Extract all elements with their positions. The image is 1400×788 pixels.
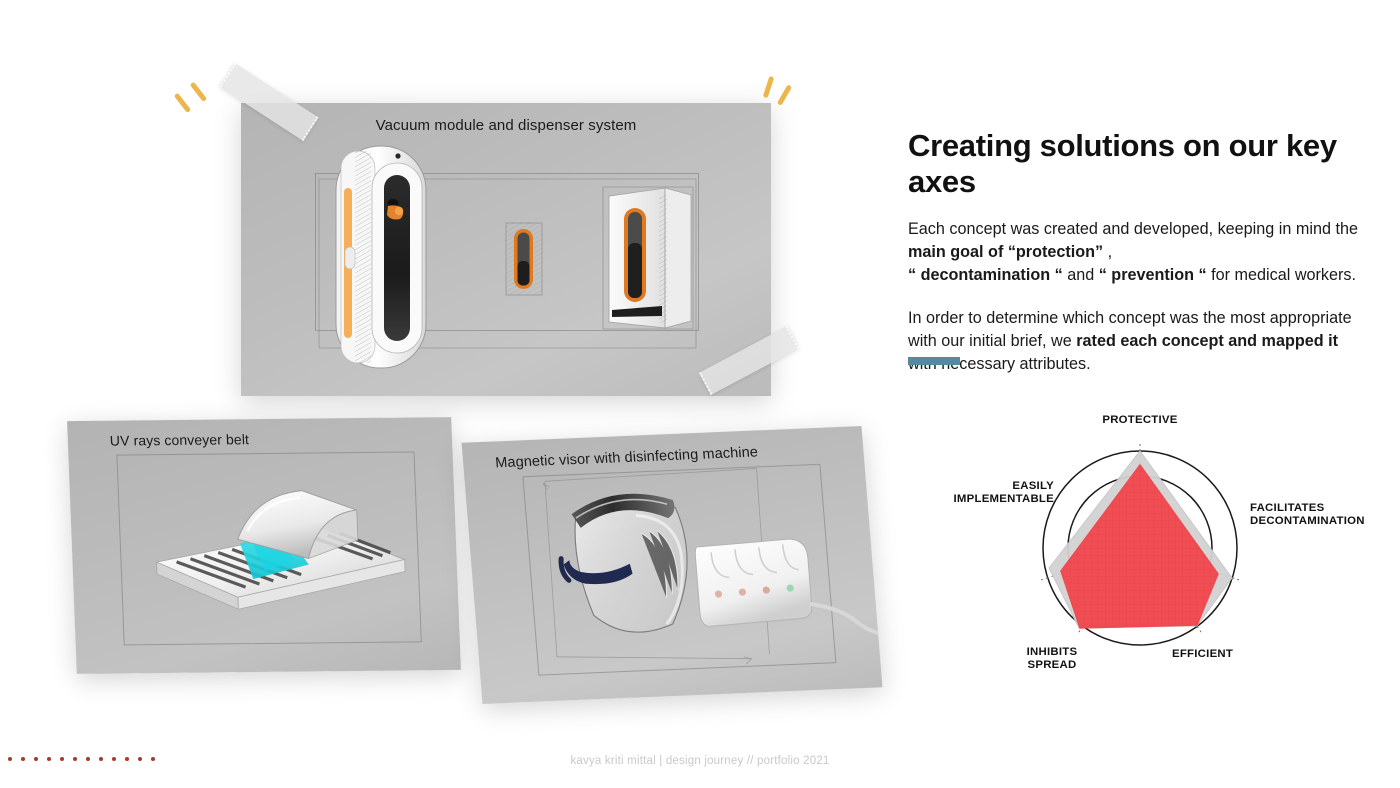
page-title: Creating solutions on our key axes — [908, 128, 1368, 200]
footer-dot-row — [8, 757, 155, 761]
footer-dot — [112, 757, 116, 761]
sketch-board-magnetic-visor[interactable]: Magnetic visor with disinfecting machine — [462, 426, 883, 704]
footer-dot — [60, 757, 64, 761]
para1-part1: Each concept was created and developed, … — [908, 220, 1358, 238]
vacuum-module-sketch — [241, 103, 771, 396]
sparkle-icon-right — [762, 72, 800, 110]
copy-block: Creating solutions on our key axes Each … — [908, 128, 1368, 396]
magnetic-visor-sketch — [462, 426, 883, 704]
footer-dot — [21, 757, 25, 761]
radar-axis-label-easily-implementable: EASILY IMPLEMENTABLE — [930, 480, 1054, 507]
para1-bold3: “ prevention “ — [1099, 266, 1207, 284]
footer-dot — [125, 757, 129, 761]
radar-axis-label-efficient: EFFICIENT — [1172, 648, 1282, 661]
radar-axis-label-facilitates-decontamination: FACILITATES DECONTAMINATION — [1250, 502, 1380, 529]
footer-dot — [138, 757, 142, 761]
footer-dot — [86, 757, 90, 761]
sparkle-icon-left — [176, 78, 214, 116]
paragraph-concept-goals: Each concept was created and developed, … — [908, 218, 1368, 287]
footer-dot — [47, 757, 51, 761]
footer-dot — [73, 757, 77, 761]
para1-part2: , — [1103, 243, 1112, 261]
footer-dot — [151, 757, 155, 761]
radar-value-polygon — [1061, 465, 1218, 628]
uv-conveyer-sketch — [67, 417, 461, 674]
para1-part3: and — [1063, 266, 1099, 284]
sketch-board-vacuum-module[interactable]: Vacuum module and dispenser system — [241, 103, 771, 396]
sketch-board-uv-conveyer-belt[interactable]: UV rays conveyer belt — [67, 417, 461, 674]
footer-credit: kavya kriti mittal | design journey // p… — [0, 755, 1400, 767]
radar-axis-label-inhibits-spread: INHIBITS SPREAD — [1004, 646, 1100, 673]
para1-part4: for medical workers. — [1207, 266, 1356, 284]
radar-chart-svg — [930, 408, 1370, 688]
para1-bold1: main goal of “protection” — [908, 243, 1103, 261]
para1-bold2: “ decontamination “ — [908, 266, 1063, 284]
portfolio-slide: Vacuum module and dispenser system — [0, 0, 1400, 788]
footer-dot — [8, 757, 12, 761]
paragraph-rating-approach: In order to determine which concept was … — [908, 307, 1368, 376]
para2-bold1: rated each concept and mapped it — [1076, 332, 1338, 350]
accent-rule — [908, 357, 960, 365]
footer-dot — [34, 757, 38, 761]
radar-axis-label-protective: PROTECTIVE — [1080, 414, 1200, 427]
radar-chart: PROTECTIVE FACILITATES DECONTAMINATION E… — [930, 408, 1370, 688]
footer-dot — [99, 757, 103, 761]
